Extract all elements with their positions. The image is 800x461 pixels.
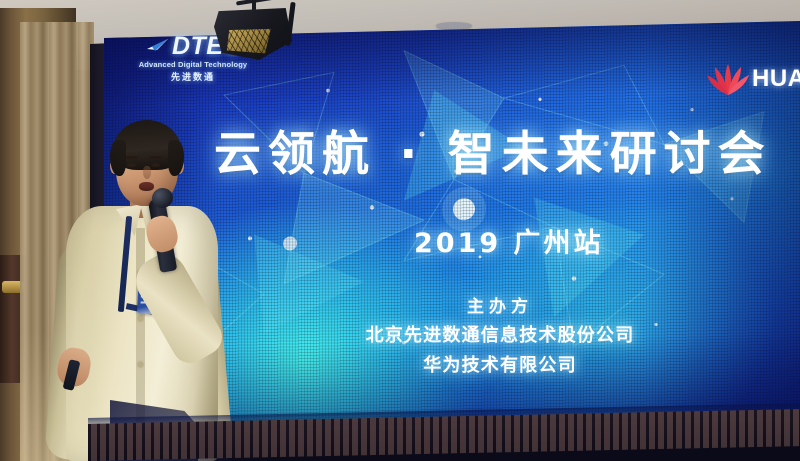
shirt-button (138, 362, 143, 367)
huawei-logo: HUA (706, 62, 800, 96)
huawei-wordmark: HUA (752, 67, 800, 91)
eye-right (151, 163, 160, 167)
eyebrow-left (126, 156, 138, 159)
eyebrow-right (150, 156, 162, 159)
organizers-label: 主办方 (300, 292, 700, 317)
organizer-line-1: 北京先进数通信息技术股份公司 (300, 321, 700, 347)
organizer-line-2: 华为技术有限公司 (300, 351, 700, 377)
ceiling-vent (436, 22, 472, 29)
stage-light-fixture (200, 0, 340, 74)
nose (143, 166, 151, 179)
light-mount-bar (236, 0, 282, 6)
organizers-block: 主办方 北京先进数通信息技术股份公司 华为技术有限公司 (300, 292, 700, 377)
hair-side-left (110, 140, 126, 176)
shirt-button (138, 316, 143, 321)
photo-scene: DTEC Advanced Digital Technology 先进数通 HU… (0, 0, 800, 461)
event-title: 云领航 · 智未来研讨会 (214, 131, 800, 178)
event-subtitle: 2019 广州站 (414, 221, 604, 260)
mouth (139, 182, 154, 191)
eye-left (127, 163, 136, 167)
sail-triangle-icon (144, 38, 170, 55)
huawei-petal-flower-icon (706, 62, 750, 96)
